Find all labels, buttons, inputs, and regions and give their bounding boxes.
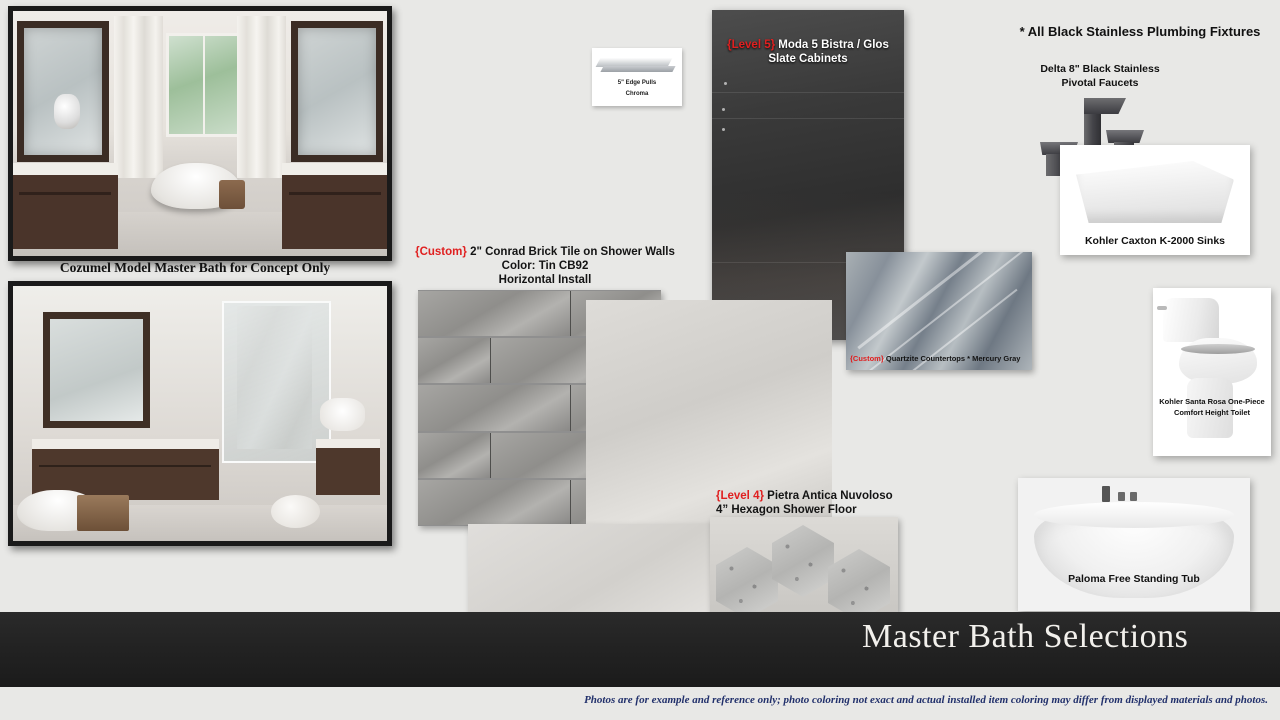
cabinet-seam-2 — [712, 118, 904, 119]
tub-handle-left — [1118, 492, 1125, 501]
hex-tile-3 — [828, 549, 890, 613]
cabinet-label-text: Moda 5 Bistra / Glos Slate Cabinets — [768, 39, 888, 65]
cabinet-level-tag: {Level 5} — [727, 39, 775, 51]
ottoman — [271, 495, 320, 528]
curtain-left — [114, 16, 163, 178]
tub-handle-right — [1130, 492, 1137, 501]
side-stool — [219, 180, 245, 209]
edge-pull-line-1: 5" Edge Pulls — [592, 78, 682, 89]
faucet-line-2: Pivotal Faucets — [1010, 76, 1190, 90]
vanity-secondary — [316, 439, 380, 495]
model-bath-photo-top — [8, 6, 392, 261]
cabinet-highlight-3 — [722, 128, 725, 131]
towel-basket — [320, 398, 365, 431]
shower-wall-tile-label: {Custom} 2" Conrad Brick Tile on Shower … — [400, 245, 690, 287]
faucet-label: Delta 8" Black Stainless Pivotal Faucets — [1010, 62, 1190, 90]
quartzite-label-text: Quartzite Countertops * Mercury Gray — [886, 354, 1021, 363]
selection-board: Cozumel Model Master Bath for Concept On… — [0, 0, 1280, 720]
toilet-caption: Kohler Santa Rosa One-Piece Comfort Heig… — [1153, 396, 1271, 419]
quartz-vein-2 — [858, 252, 1025, 370]
faucet-line-1: Delta 8" Black Stainless — [1010, 62, 1190, 76]
cabinet-label: {Level 5} Moda 5 Bistra / Glos Slate Cab… — [716, 38, 900, 67]
cabinet-highlight-2 — [722, 108, 725, 111]
bathroom-scene — [13, 11, 387, 256]
shower-wall-line-2: Color: Tin CB92 — [400, 259, 690, 273]
plumbing-fixtures-note: * All Black Stainless Plumbing Fixtures — [1000, 24, 1280, 39]
edge-pull-line-2: Chroma — [592, 89, 682, 100]
sink-basin-image — [1076, 161, 1234, 223]
model-bath-photo-bottom — [8, 281, 392, 546]
disclaimer-text: Photos are for example and reference onl… — [0, 694, 1268, 706]
vanity-left — [13, 163, 118, 249]
quartzite-label: {Custom} Quartzite Countertops * Mercury… — [850, 354, 1035, 363]
shower-wall-line-1: 2" Conrad Brick Tile on Shower Walls — [470, 246, 675, 258]
quartzite-countertop-swatch — [846, 252, 1032, 370]
pull-bar-bottom — [600, 66, 675, 72]
shower-wall-line-3: Horizontal Install — [400, 273, 690, 287]
bathroom-scene-2 — [13, 286, 387, 541]
tub-rim — [1034, 502, 1234, 528]
quartzite-level-tag: {Custom} — [850, 354, 884, 363]
shower-floor-line-1: Pietra Antica Nuvoloso — [767, 490, 892, 502]
curtain-right — [237, 16, 286, 178]
edge-pull-icon — [598, 54, 676, 78]
edge-pull-caption: 5" Edge Pulls Chroma — [592, 78, 682, 101]
page-title: Master Bath Selections — [862, 618, 1262, 656]
hex-tile-2 — [772, 525, 834, 597]
shower-floor-line-2: 4” Hexagon Shower Floor — [716, 503, 946, 517]
tub-card: Paloma Free Standing Tub — [1018, 478, 1250, 611]
window — [166, 33, 239, 137]
tub-filler-spout — [1102, 486, 1110, 502]
sink-card: Kohler Caxton K-2000 Sinks — [1060, 145, 1250, 255]
toilet-line-2: Comfort Height Toilet — [1153, 407, 1271, 418]
shower-floor-label: {Level 4} Pietra Antica Nuvoloso 4” Hexa… — [716, 489, 946, 517]
shower-floor-hex-swatch — [710, 517, 898, 613]
sink-caption: Kohler Caxton K-2000 Sinks — [1060, 235, 1250, 247]
mirror-2 — [43, 312, 151, 428]
tub-caption: Paloma Free Standing Tub — [1018, 573, 1250, 585]
toilet-card: Kohler Santa Rosa One-Piece Comfort Heig… — [1153, 288, 1271, 456]
shower-floor-level-tag: {Level 4} — [716, 490, 764, 502]
toilet-flush-lever — [1157, 306, 1167, 310]
shower-wall-level-tag: {Custom} — [415, 246, 467, 258]
mirror-left — [17, 21, 110, 162]
model-bath-caption: Cozumel Model Master Bath for Concept On… — [8, 260, 382, 276]
vanity-right — [282, 163, 387, 249]
orchid-plant — [54, 94, 80, 128]
cabinet-seam-1 — [712, 92, 904, 93]
toilet-seat — [1181, 344, 1255, 354]
toilet-line-1: Kohler Santa Rosa One-Piece — [1153, 396, 1271, 407]
toilet-tank — [1163, 298, 1219, 342]
mirror-right — [291, 21, 384, 162]
hex-tile-1 — [716, 547, 778, 613]
cabinet-highlight-1 — [724, 82, 727, 85]
side-table — [77, 495, 129, 531]
edge-pull-card: 5" Edge Pulls Chroma — [592, 48, 682, 106]
glass-shower-enclosure — [222, 301, 331, 463]
